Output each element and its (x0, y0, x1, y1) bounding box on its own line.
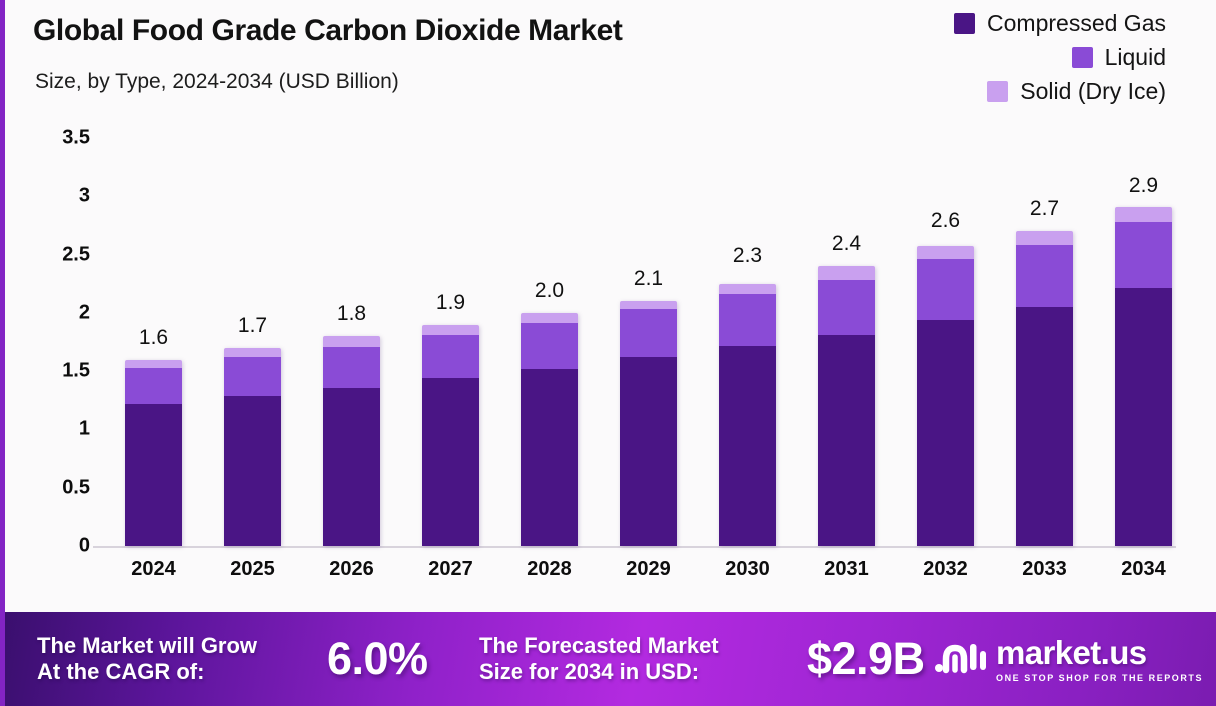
bar-group[interactable]: 2.12029 (620, 0, 677, 546)
bar-segment[interactable] (422, 335, 479, 378)
bar-value-label: 2.9 (1129, 174, 1158, 198)
bar-segment[interactable] (521, 323, 578, 368)
bar-group[interactable]: 2.92034 (1115, 0, 1172, 546)
bar-segment[interactable] (422, 378, 479, 546)
bar-segment[interactable] (521, 313, 578, 323)
brand-logo: market.us ONE STOP SHOP FOR THE REPORTS (934, 636, 1203, 683)
bar-segment[interactable] (125, 368, 182, 404)
bar-segment[interactable] (125, 404, 182, 546)
y-axis-tick-label: 3.5 (62, 127, 90, 150)
forecast-label-line2: Size for 2034 in USD: (479, 659, 719, 685)
bar-series-container: 1.620241.720251.820261.920272.020282.120… (103, 0, 1173, 546)
bar-group[interactable]: 2.62032 (917, 0, 974, 546)
x-axis-tick-label: 2024 (131, 558, 176, 581)
bar-segment[interactable] (323, 347, 380, 388)
bar-value-label: 2.4 (832, 232, 861, 256)
x-axis-tick-label: 2033 (1022, 558, 1067, 581)
cagr-label: The Market will Grow At the CAGR of: (37, 633, 257, 684)
bar-value-label: 1.9 (436, 291, 465, 315)
x-axis-tick-label: 2030 (725, 558, 770, 581)
bar-segment[interactable] (224, 348, 281, 357)
bottom-banner: The Market will Grow At the CAGR of: 6.0… (5, 612, 1216, 706)
bar-value-label: 1.8 (337, 302, 366, 326)
bar-segment[interactable] (521, 369, 578, 546)
bar-segment[interactable] (719, 346, 776, 546)
bar-group[interactable]: 1.82026 (323, 0, 380, 546)
bar-group[interactable]: 1.62024 (125, 0, 182, 546)
bar-segment[interactable] (818, 266, 875, 280)
y-axis-tick-label: 1.5 (62, 360, 90, 383)
infographic-root: Global Food Grade Carbon Dioxide Market … (0, 0, 1216, 706)
brand-tagline: ONE STOP SHOP FOR THE REPORTS (996, 673, 1203, 683)
bar-group[interactable]: 2.02028 (521, 0, 578, 546)
x-axis-tick-label: 2029 (626, 558, 671, 581)
x-axis-tick-label: 2034 (1121, 558, 1166, 581)
bar-segment[interactable] (323, 388, 380, 547)
y-axis-tick-label: 0 (79, 535, 90, 558)
bar-group[interactable]: 2.72033 (1016, 0, 1073, 546)
bar-segment[interactable] (1115, 288, 1172, 546)
plot-area: 00.511.522.533.5 1.620241.720251.820261.… (5, 0, 1216, 620)
stacked-bar[interactable] (125, 360, 182, 546)
bar-segment[interactable] (125, 360, 182, 368)
bar-segment[interactable] (422, 325, 479, 335)
bar-segment[interactable] (917, 320, 974, 546)
y-axis-tick-label: 3 (79, 185, 90, 208)
bar-segment[interactable] (620, 301, 677, 309)
bar-segment[interactable] (818, 335, 875, 546)
market-us-logo-icon (934, 637, 986, 682)
forecast-label-line1: The Forecasted Market (479, 633, 719, 659)
cagr-label-line2: At the CAGR of: (37, 659, 257, 685)
stacked-bar[interactable] (719, 284, 776, 546)
stacked-bar[interactable] (323, 336, 380, 546)
stacked-bar[interactable] (1016, 231, 1073, 546)
bar-segment[interactable] (917, 259, 974, 320)
stacked-bar[interactable] (521, 313, 578, 546)
bar-segment[interactable] (620, 309, 677, 357)
stacked-bar[interactable] (1115, 207, 1172, 546)
brand-text: market.us ONE STOP SHOP FOR THE REPORTS (996, 636, 1203, 683)
y-axis-tick-label: 2 (79, 301, 90, 324)
bar-segment[interactable] (1115, 207, 1172, 222)
bar-value-label: 2.1 (634, 267, 663, 291)
x-axis-tick-label: 2027 (428, 558, 473, 581)
x-axis-line (93, 546, 1176, 548)
x-axis-tick-label: 2032 (923, 558, 968, 581)
stacked-bar[interactable] (818, 266, 875, 546)
stacked-bar[interactable] (422, 325, 479, 546)
bar-segment[interactable] (224, 396, 281, 546)
bar-segment[interactable] (1016, 245, 1073, 307)
stacked-bar[interactable] (917, 246, 974, 546)
y-axis-tick-label: 2.5 (62, 243, 90, 266)
bar-segment[interactable] (719, 294, 776, 345)
bar-segment[interactable] (1115, 222, 1172, 288)
bar-segment[interactable] (719, 284, 776, 294)
stacked-bar[interactable] (224, 348, 281, 546)
forecast-value: $2.9B (807, 633, 925, 685)
y-axis-tick-label: 1 (79, 418, 90, 441)
bar-segment[interactable] (818, 280, 875, 335)
bar-segment[interactable] (620, 357, 677, 546)
bar-group[interactable]: 2.42031 (818, 0, 875, 546)
forecast-label: The Forecasted Market Size for 2034 in U… (479, 633, 719, 684)
x-axis-tick-label: 2028 (527, 558, 572, 581)
bar-segment[interactable] (224, 357, 281, 395)
brand-name: market.us (996, 636, 1147, 669)
bar-value-label: 2.6 (931, 209, 960, 233)
bar-segment[interactable] (1016, 307, 1073, 546)
y-axis-tick-label: 0.5 (62, 476, 90, 499)
bar-value-label: 1.7 (238, 314, 267, 338)
bar-group[interactable]: 1.92027 (422, 0, 479, 546)
bar-value-label: 2.3 (733, 244, 762, 268)
bar-segment[interactable] (323, 336, 380, 346)
bar-value-label: 2.7 (1030, 197, 1059, 221)
stacked-bar[interactable] (620, 301, 677, 546)
x-axis-tick-label: 2031 (824, 558, 869, 581)
bar-value-label: 1.6 (139, 326, 168, 350)
bar-segment[interactable] (917, 246, 974, 259)
bar-group[interactable]: 2.32030 (719, 0, 776, 546)
x-axis-tick-label: 2025 (230, 558, 275, 581)
bar-group[interactable]: 1.72025 (224, 0, 281, 546)
bar-segment[interactable] (1016, 231, 1073, 245)
bar-value-label: 2.0 (535, 279, 564, 303)
cagr-value: 6.0% (327, 633, 428, 685)
x-axis-tick-label: 2026 (329, 558, 374, 581)
cagr-label-line1: The Market will Grow (37, 633, 257, 659)
